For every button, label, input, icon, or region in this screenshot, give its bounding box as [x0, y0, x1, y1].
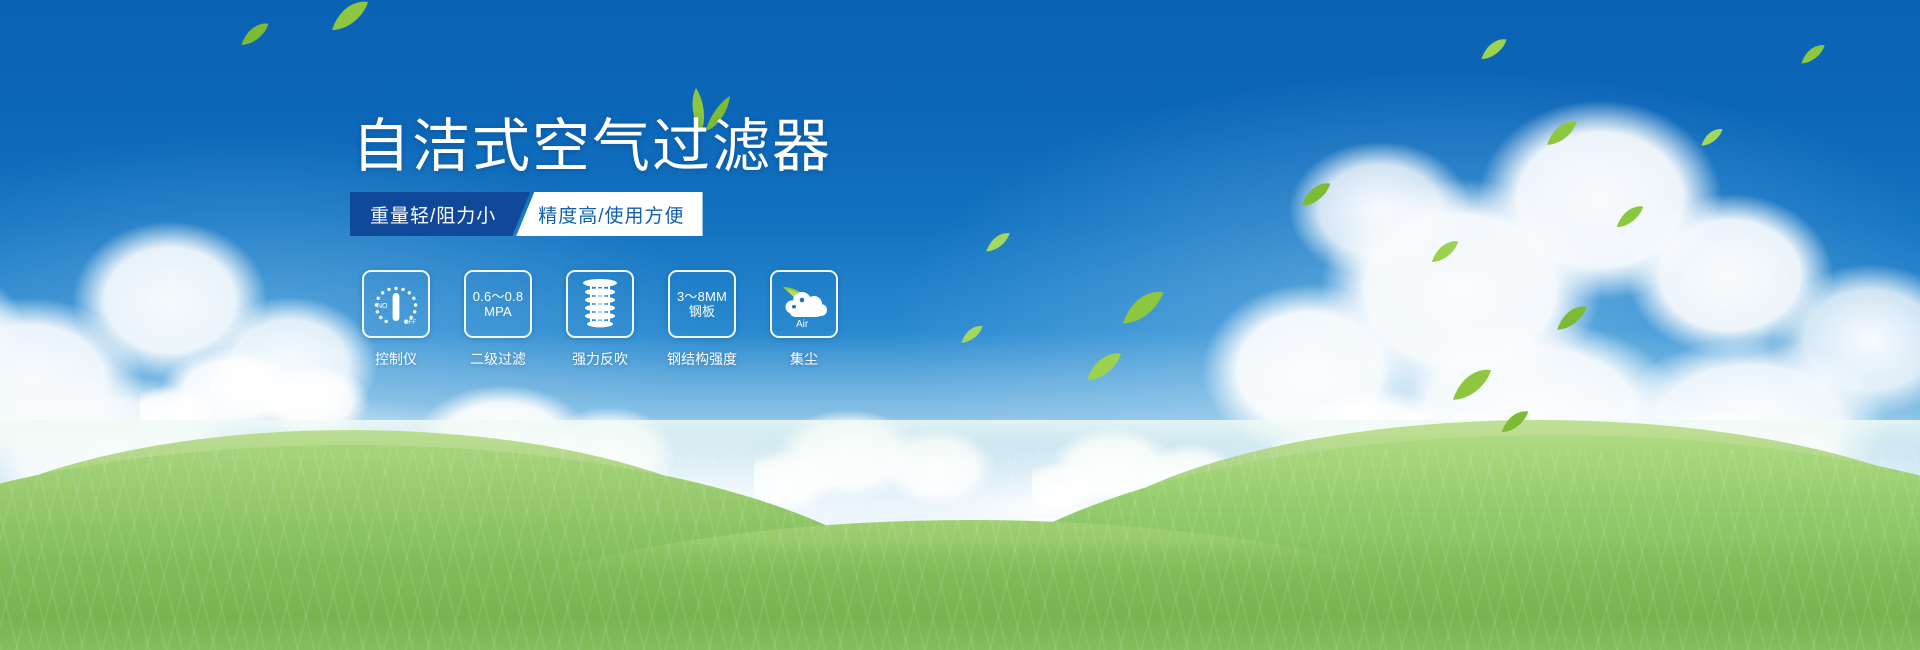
- feature-icon-box: [566, 270, 634, 338]
- feature-icon-row: NO OFF 控制仪 0.6～0.8 MPA 二级过滤: [357, 270, 843, 369]
- feature-icon-box: Air: [770, 270, 838, 338]
- page-title: 自洁式空气过滤器: [352, 118, 832, 176]
- feature-caption: 强力反吹: [572, 349, 628, 369]
- air-cloud-icon: Air: [777, 277, 831, 331]
- feature-caption: 二级过滤: [470, 349, 526, 369]
- feature-icon-box: NO OFF: [362, 270, 430, 338]
- feature-item-blowback[interactable]: 强力反吹: [561, 270, 639, 369]
- banner-content: 自洁式空气过滤器 重量轻/阻力小 精度高/使用方便: [0, 0, 1920, 650]
- feature-item-pressure[interactable]: 0.6～0.8 MPA 二级过滤: [459, 270, 537, 369]
- pressure-line-2: MPA: [473, 304, 524, 319]
- feature-item-control[interactable]: NO OFF 控制仪: [357, 270, 435, 369]
- feature-item-dust[interactable]: Air 集尘: [765, 270, 843, 369]
- feature-caption: 钢结构强度: [667, 349, 737, 369]
- feature-caption: 集尘: [790, 349, 818, 369]
- steel-plate-text-icon: 3～8MM 钢板: [677, 289, 727, 320]
- tagline-primary: 重量轻/阻力小: [350, 192, 530, 236]
- pressure-line-1: 0.6～0.8: [473, 289, 524, 304]
- feature-icon-box: 3～8MM 钢板: [668, 270, 736, 338]
- dial-off-label: OFF: [404, 320, 416, 326]
- control-dial-icon: NO OFF: [368, 276, 424, 332]
- filter-cartridge-icon: [575, 277, 625, 331]
- air-label: Air: [796, 319, 809, 330]
- steel-line-1: 3～8MM: [677, 289, 727, 304]
- tagline-secondary: 精度高/使用方便: [516, 192, 702, 236]
- feature-caption: 控制仪: [375, 349, 417, 369]
- steel-line-2: 钢板: [677, 304, 727, 319]
- feature-item-steel[interactable]: 3～8MM 钢板 钢结构强度: [663, 270, 741, 369]
- dial-on-label: NO: [377, 303, 388, 310]
- tagline-bar: 重量轻/阻力小 精度高/使用方便: [350, 192, 703, 236]
- pressure-text-icon: 0.6～0.8 MPA: [473, 289, 524, 320]
- feature-icon-box: 0.6～0.8 MPA: [464, 270, 532, 338]
- hero-banner: 自洁式空气过滤器 重量轻/阻力小 精度高/使用方便: [0, 0, 1920, 650]
